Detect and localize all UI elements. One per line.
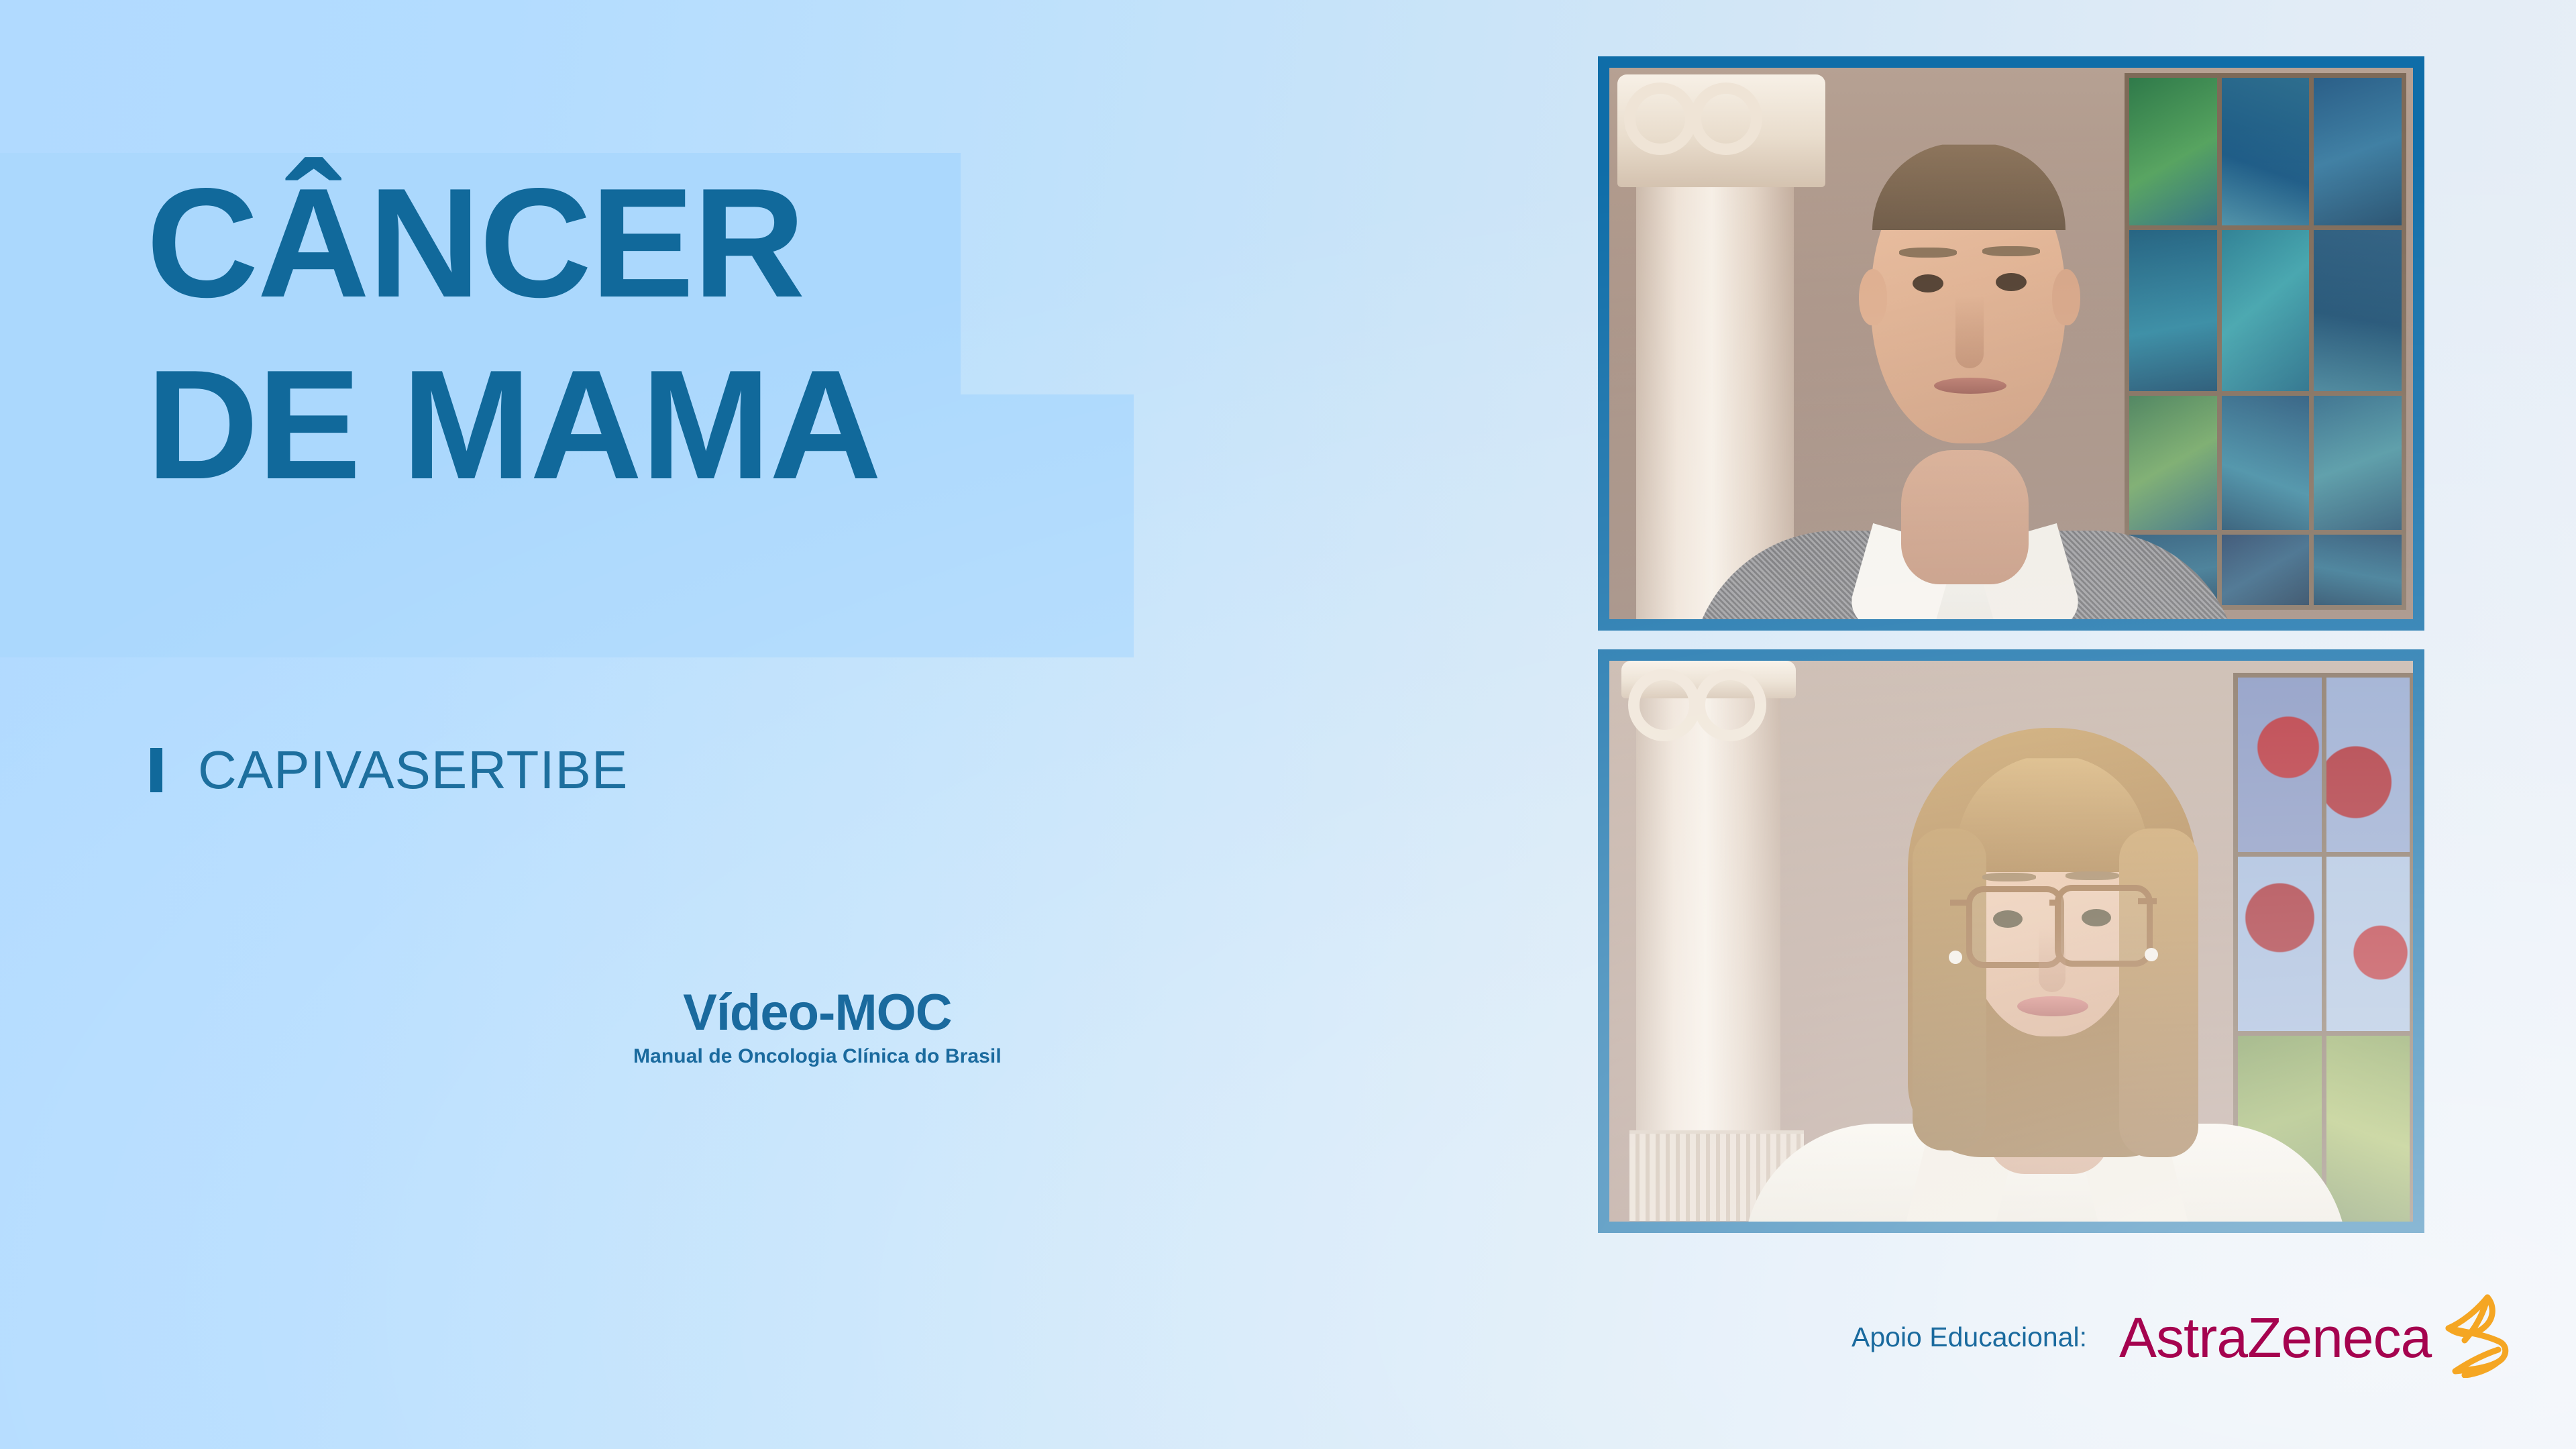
glass-pane: [2222, 396, 2310, 530]
video-moc-wordmark: Vídeo-MOC: [633, 987, 1002, 1038]
glass-pane: [2129, 230, 2217, 391]
glass-pane: [2326, 678, 2410, 852]
ear: [2052, 269, 2080, 325]
title-line-1: CÂNCER: [146, 168, 880, 319]
video-moc-tagline: Manual de Oncologia Clínica do Brasil: [633, 1046, 1002, 1067]
eyeglass-temple: [2138, 898, 2157, 904]
subtitle-accent-bar: [150, 748, 162, 792]
eyebrow: [1982, 873, 2036, 881]
video-frame-bottom[interactable]: [1598, 649, 2424, 1233]
column-capital: [1617, 74, 1825, 187]
eye: [1996, 273, 2027, 291]
column-capital: [1621, 661, 1796, 698]
presentation-slide: CÂNCER DE MAMA CAPIVASERTIBE Vídeo-MOC M…: [0, 0, 2576, 1449]
video-moc-logo: Vídeo-MOC Manual de Oncologia Clínica do…: [633, 987, 1002, 1067]
eyebrow: [2065, 871, 2119, 880]
earring: [1949, 951, 1962, 964]
ornate-column: [1636, 688, 1780, 1171]
neck: [1901, 450, 2029, 584]
glass-pane: [2238, 857, 2322, 1031]
glass-pane: [2314, 230, 2402, 391]
glass-pane: [2222, 78, 2310, 225]
glass-pane: [2238, 678, 2322, 852]
astrazeneca-wordmark: AstraZeneca: [2119, 1309, 2431, 1366]
title-line-2: DE MAMA: [146, 350, 880, 500]
hair-strand: [2119, 828, 2198, 1157]
subtitle-label: CAPIVASERTIBE: [198, 743, 628, 797]
ear: [1859, 269, 1887, 325]
video-frame-top[interactable]: [1598, 56, 2424, 631]
eye: [1993, 910, 2023, 928]
eye: [2082, 909, 2111, 926]
glass-pane: [2326, 857, 2410, 1031]
glass-pane: [2129, 78, 2217, 225]
glass-pane: [2326, 1036, 2410, 1222]
glass-pane: [2314, 535, 2402, 605]
eyeglass-temple: [1950, 900, 1969, 906]
astrazeneca-ribbon-icon: [2438, 1293, 2510, 1381]
eye: [1913, 274, 1943, 292]
eyeglass-bridge: [2049, 900, 2060, 906]
glass-pane: [2314, 78, 2402, 225]
nose: [1955, 296, 1984, 368]
earring: [2145, 948, 2158, 961]
page-title: CÂNCER DE MAMA: [146, 168, 880, 500]
hair-strand: [1913, 828, 1986, 1150]
glass-pane: [2222, 535, 2310, 605]
glass-pane: [2222, 230, 2310, 391]
eyebrow: [1899, 248, 1957, 258]
nose: [2039, 928, 2065, 992]
eyebrow: [1982, 246, 2040, 256]
stained-glass-window: [2125, 73, 2406, 610]
sponsor-label: Apoio Educacional:: [1851, 1324, 2087, 1351]
mouth: [2017, 996, 2088, 1016]
glass-pane: [2129, 396, 2217, 530]
astrazeneca-logo: AstraZeneca: [2119, 1293, 2510, 1381]
eyeglass-lens: [2055, 885, 2153, 967]
sponsor-credit: Apoio Educacional: AstraZeneca: [1851, 1293, 2510, 1381]
video-scene-female-speaker: [1609, 661, 2413, 1222]
subtitle: CAPIVASERTIBE: [150, 743, 628, 797]
video-scene-male-speaker: [1609, 68, 2413, 619]
mouth: [1934, 378, 2006, 394]
glass-pane: [2314, 396, 2402, 530]
